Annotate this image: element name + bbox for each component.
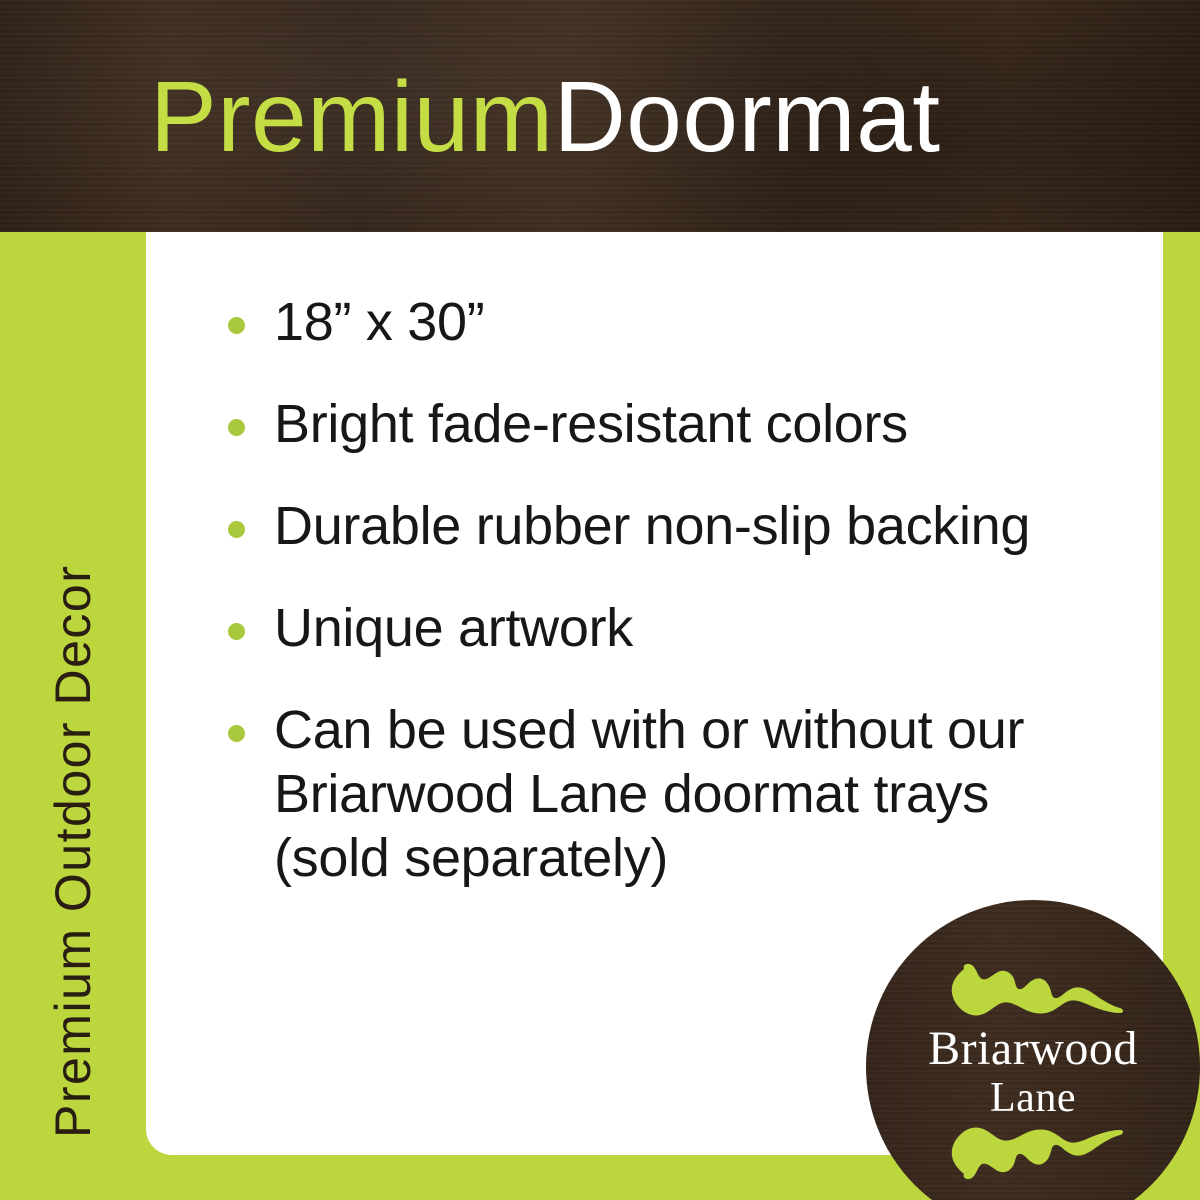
briarwood-lane-logo: Briarwood Lane bbox=[866, 900, 1200, 1200]
bullet-dot-icon bbox=[228, 521, 245, 538]
logo-wordmark: Briarwood Lane bbox=[928, 1023, 1138, 1121]
bullet-dot-icon bbox=[228, 623, 245, 640]
bullet-dot-icon bbox=[228, 419, 245, 436]
list-item: Durable rubber non-slip backing bbox=[222, 494, 1102, 558]
page-title-main: Doormat bbox=[554, 61, 941, 173]
feature-text: Bright fade-resistant colors bbox=[274, 392, 1102, 456]
oak-leaf-icon bbox=[942, 963, 1124, 1021]
list-item: Unique artwork bbox=[222, 596, 1102, 660]
list-item: Can be used with or without our Briarwoo… bbox=[222, 698, 1102, 890]
feature-text: 18” x 30” bbox=[274, 290, 1102, 354]
list-item: Bright fade-resistant colors bbox=[222, 392, 1102, 456]
feature-text: Can be used with or without our Briarwoo… bbox=[274, 698, 1102, 890]
logo-name-line-2: Lane bbox=[928, 1075, 1138, 1121]
logo-inner: Briarwood Lane bbox=[866, 900, 1200, 1200]
logo-name-line-1: Briarwood bbox=[928, 1023, 1138, 1075]
feature-list: 18” x 30” Bright fade-resistant colors D… bbox=[222, 290, 1102, 890]
feature-text: Durable rubber non-slip backing bbox=[274, 494, 1102, 558]
list-item: 18” x 30” bbox=[222, 290, 1102, 354]
sidebar-vertical-label: Premium Outdoor Decor bbox=[0, 232, 146, 1200]
product-infographic: PremiumDoormat Premium Outdoor Decor 18”… bbox=[0, 0, 1200, 1200]
oak-leaf-icon bbox=[942, 1122, 1124, 1180]
page-title: PremiumDoormat bbox=[150, 62, 941, 172]
header-banner: PremiumDoormat bbox=[0, 0, 1200, 232]
page-title-accent: Premium bbox=[150, 61, 554, 173]
bullet-dot-icon bbox=[228, 725, 245, 742]
bullet-dot-icon bbox=[228, 317, 245, 334]
feature-text: Unique artwork bbox=[274, 596, 1102, 660]
